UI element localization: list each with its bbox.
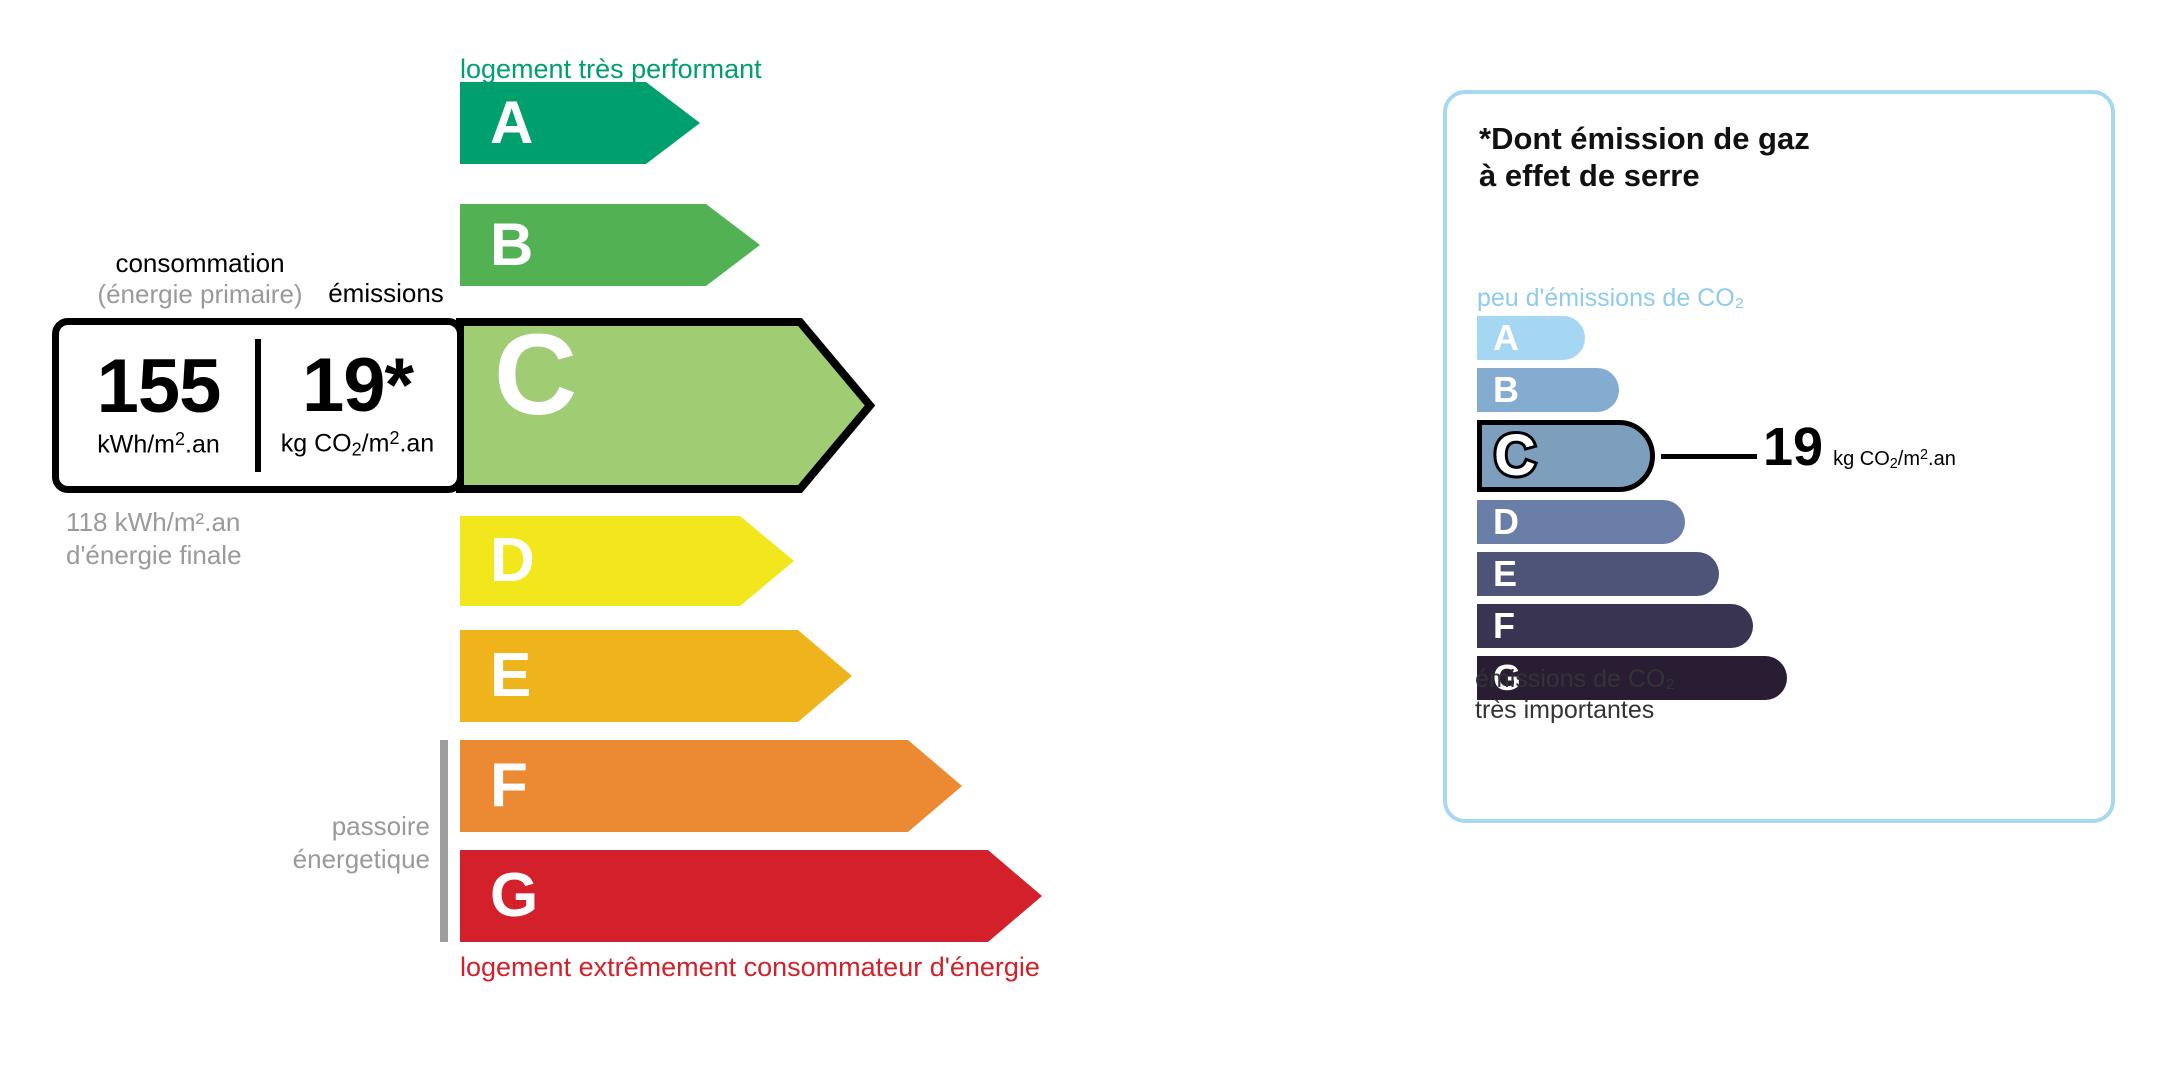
ges-callout-value: 19 kg CO2/m2.an	[1763, 420, 1956, 474]
ges-bar-f-letter: F	[1493, 608, 1515, 644]
consumption-label-subtitle: (énergie primaire)	[70, 279, 330, 310]
emissions-value-cell: 19* kg CO2/m2.an	[258, 325, 457, 486]
band-b-body: B	[460, 204, 533, 286]
ges-bottom-caption: émissions de CO₂ très importantes	[1475, 664, 1675, 725]
emissions-label: émissions	[296, 278, 476, 309]
ges-bar-e-letter: E	[1493, 556, 1517, 592]
ges-panel-title: *Dont émission de gaz à effet de serre	[1479, 120, 1979, 194]
ges-bar-c-selected: C	[1477, 420, 1655, 492]
band-b-letter: B	[490, 215, 533, 275]
consumption-label-title: consommation	[115, 248, 284, 278]
ges-bar-c-letter: C	[1494, 427, 1536, 485]
ges-top-caption: peu d'émissions de CO₂	[1477, 284, 1744, 313]
band-a-body: A	[460, 82, 533, 164]
ges-bar-d: D	[1477, 500, 1685, 544]
ges-bar-b-letter: B	[1493, 372, 1519, 408]
emissions-unit-sup: 2	[389, 428, 399, 448]
final-energy-note: 118 kWh/m².an d'énergie finale	[66, 506, 426, 571]
scale-bottom-caption: logement extrêmement consommateur d'éner…	[460, 952, 1040, 983]
passoire-bracket	[440, 740, 448, 942]
passoire-label: passoire énergetique	[230, 810, 430, 875]
consumption-unit: kWh/m2.an	[97, 429, 220, 460]
consumption-label: consommation (énergie primaire)	[70, 248, 330, 309]
ges-title-line1: *Dont émission de gaz	[1479, 120, 1979, 157]
ges-bar-d-letter: D	[1493, 504, 1519, 540]
band-d-letter: D	[490, 530, 535, 592]
band-g-shape	[460, 850, 1042, 942]
scale-top-caption: logement très performant	[460, 54, 762, 85]
ges-callout-unit: kg CO2/m2.an	[1833, 447, 1956, 472]
ges-panel: *Dont émission de gaz à effet de serre p…	[1443, 90, 2115, 823]
ges-bar-a-letter: A	[1493, 320, 1519, 356]
emissions-unit-sub: 2	[352, 440, 362, 460]
consumption-value-cell: 155 kWh/m2.an	[59, 325, 258, 486]
ges-callout-number: 19	[1763, 420, 1823, 474]
consumption-value: 155	[97, 351, 221, 423]
energy-band-e: E	[460, 630, 852, 722]
emissions-value: 19*	[302, 350, 413, 422]
band-g-body: G	[460, 850, 538, 942]
band-e-body: E	[460, 630, 531, 722]
ges-bar-f: F	[1477, 604, 1753, 648]
energy-band-g: G	[460, 850, 1042, 942]
ges-bottom-caption-line1: émissions de CO₂	[1475, 664, 1675, 695]
energy-band-f: F	[460, 740, 962, 832]
band-a-letter: A	[490, 93, 533, 153]
ges-callout-leader-line	[1661, 454, 1757, 459]
emissions-unit-mid: /m	[362, 430, 390, 458]
band-f-body: F	[460, 740, 528, 832]
consumption-unit-suffix: .an	[185, 431, 220, 459]
band-g-letter: G	[490, 865, 538, 927]
consumption-unit-sup: 2	[175, 429, 185, 449]
band-f-letter: F	[490, 755, 528, 817]
final-energy-line1: 118 kWh/m².an	[66, 506, 426, 539]
energy-band-a: A	[460, 82, 700, 164]
ges-callout-unit-sup: 2	[1920, 447, 1928, 463]
dpe-diagram: logement très performant A B C D	[0, 0, 2169, 1079]
ges-bar-e: E	[1477, 552, 1719, 596]
ges-callout-unit-sub: 2	[1890, 456, 1898, 472]
ges-callout-unit-prefix: kg CO	[1833, 448, 1890, 470]
emissions-unit: kg CO2/m2.an	[281, 428, 434, 461]
passoire-label-line1: passoire	[230, 810, 430, 843]
band-c-letter: C	[494, 318, 577, 433]
energy-band-c-selected: C	[460, 318, 874, 493]
ges-callout-unit-suffix: .an	[1928, 448, 1956, 470]
value-box: 155 kWh/m2.an 19* kg CO2/m2.an	[52, 318, 464, 493]
consumption-unit-prefix: kWh/m	[97, 431, 175, 459]
energy-scale: logement très performant A B C D	[0, 0, 1360, 1079]
energy-band-d: D	[460, 516, 794, 606]
ges-title-line2: à effet de serre	[1479, 157, 1979, 194]
band-e-letter: E	[490, 645, 531, 707]
passoire-label-line2: énergetique	[230, 843, 430, 876]
ges-bar-a: A	[1477, 316, 1585, 360]
ges-bottom-caption-line2: très importantes	[1475, 695, 1675, 726]
energy-band-b: B	[460, 204, 760, 286]
emissions-unit-prefix: kg CO	[281, 430, 352, 458]
final-energy-line2: d'énergie finale	[66, 539, 426, 572]
band-d-body: D	[460, 516, 535, 606]
ges-callout-unit-mid: /m	[1898, 448, 1920, 470]
emissions-unit-suffix: .an	[399, 430, 434, 458]
ges-bar-b: B	[1477, 368, 1619, 412]
band-f-shape	[460, 740, 962, 832]
